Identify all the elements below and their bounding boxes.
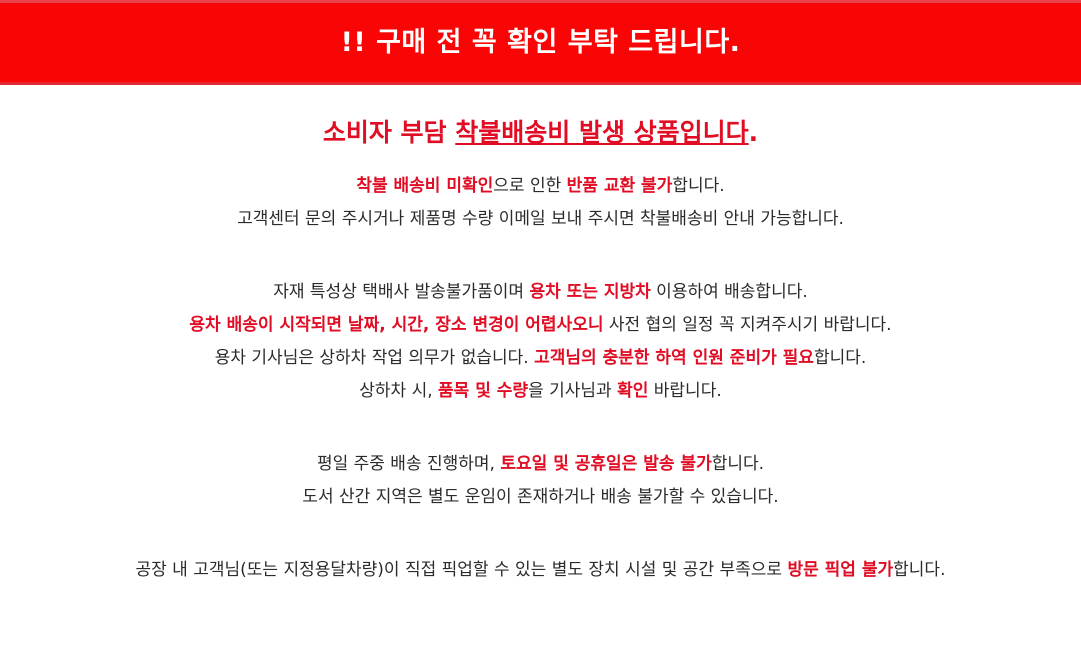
- body-text: 합니다.: [893, 560, 945, 580]
- notice-line-schedule-remote-area: 도서 산간 지역은 별도 운임이 존재하거나 배송 불가할 수 있습니다.: [0, 481, 1081, 514]
- emphasis-text: 반품 교환 불가: [567, 176, 673, 196]
- emphasis-text: 용차 배송이 시작되면 날짜, 시간, 장소 변경이 어렵사오니: [189, 315, 603, 335]
- body-text: 이용하여 배송합니다.: [651, 282, 808, 302]
- body-text: 상하차 시,: [359, 381, 438, 401]
- notice-line-cod-no-return: 착불 배송비 미확인으로 인한 반품 교환 불가합니다.: [0, 170, 1081, 203]
- body-text: 고객센터 문의 주시거나 제품명 수량 이메일 보내 주시면 착불배송비 안내 …: [237, 209, 844, 229]
- page-title: 소비자 부담 착불배송비 발생 상품입니다.: [0, 117, 1081, 148]
- notice-line-freight-unload-staff: 용차 기사님은 상하차 작업 의무가 없습니다. 고객님의 충분한 하역 인원 …: [0, 342, 1081, 375]
- notice-paragraph-cod-fee: 착불 배송비 미확인으로 인한 반품 교환 불가합니다.고객센터 문의 주시거나…: [0, 170, 1081, 236]
- emphasis-text: 확인: [617, 381, 648, 401]
- body-text: 으로 인한: [493, 176, 566, 196]
- emphasis-text: 토요일 및 공휴일은 발송 불가: [500, 454, 711, 474]
- body-text: 합니다.: [814, 348, 866, 368]
- body-text: 바랍니다.: [648, 381, 721, 401]
- banner-title: !! 구매 전 꼭 확인 부탁 드립니다.: [341, 29, 741, 56]
- page-title-prefix: 소비자 부담: [323, 118, 455, 147]
- emphasis-text: 방문 픽업 불가: [787, 560, 893, 580]
- body-text: 사전 협의 일정 꼭 지켜주시기 바랍니다.: [604, 315, 892, 335]
- notice-paragraph-list: 착불 배송비 미확인으로 인한 반품 교환 불가합니다.고객센터 문의 주시거나…: [0, 170, 1081, 587]
- notice-line-freight-check-items: 상하차 시, 품목 및 수량을 기사님과 확인 바랍니다.: [0, 375, 1081, 408]
- notice-line-cod-contact: 고객센터 문의 주시거나 제품명 수량 이메일 보내 주시면 착불배송비 안내 …: [0, 203, 1081, 236]
- body-text: 용차 기사님은 상하차 작업 의무가 없습니다.: [215, 348, 534, 368]
- emphasis-text: 용차 또는 지방차: [529, 282, 650, 302]
- body-text: 평일 주중 배송 진행하며,: [317, 454, 500, 474]
- notice-paragraph-schedule: 평일 주중 배송 진행하며, 토요일 및 공휴일은 발송 불가합니다.도서 산간…: [0, 448, 1081, 514]
- body-text: 공장 내 고객님(또는 지정용달차량)이 직접 픽업할 수 있는 별도 장치 시…: [136, 560, 788, 580]
- body-text: 합니다.: [712, 454, 764, 474]
- body-text: 자재 특성상 택배사 발송불가품이며: [273, 282, 529, 302]
- notice-line-pickup-not-allowed: 공장 내 고객님(또는 지정용달차량)이 직접 픽업할 수 있는 별도 장치 시…: [0, 554, 1081, 587]
- body-text: 을 기사님과: [528, 381, 617, 401]
- body-text: 도서 산간 지역은 별도 운임이 존재하거나 배송 불가할 수 있습니다.: [302, 487, 778, 507]
- warning-banner: !! 구매 전 꼭 확인 부탁 드립니다.: [0, 0, 1081, 85]
- notice-content: 소비자 부담 착불배송비 발생 상품입니다. 착불 배송비 미확인으로 인한 반…: [0, 85, 1081, 587]
- shipping-notice-page: !! 구매 전 꼭 확인 부탁 드립니다. 소비자 부담 착불배송비 발생 상품…: [0, 0, 1081, 657]
- emphasis-text: 착불 배송비 미확인: [356, 176, 493, 196]
- notice-line-freight-not-parcel: 자재 특성상 택배사 발송불가품이며 용차 또는 지방차 이용하여 배송합니다.: [0, 276, 1081, 309]
- body-text: 합니다.: [672, 176, 724, 196]
- page-title-emphasis: 착불배송비 발생 상품입니다: [455, 118, 748, 147]
- notice-line-schedule-weekday-only: 평일 주중 배송 진행하며, 토요일 및 공휴일은 발송 불가합니다.: [0, 448, 1081, 481]
- notice-paragraph-freight-vehicle: 자재 특성상 택배사 발송불가품이며 용차 또는 지방차 이용하여 배송합니다.…: [0, 276, 1081, 408]
- notice-line-freight-no-change: 용차 배송이 시작되면 날짜, 시간, 장소 변경이 어렵사오니 사전 협의 일…: [0, 309, 1081, 342]
- emphasis-text: 품목 및 수량: [438, 381, 528, 401]
- emphasis-text: 고객님의 충분한 하역 인원 준비가 필요: [534, 348, 814, 368]
- notice-paragraph-pickup: 공장 내 고객님(또는 지정용달차량)이 직접 픽업할 수 있는 별도 장치 시…: [0, 554, 1081, 587]
- page-title-suffix: .: [749, 118, 759, 147]
